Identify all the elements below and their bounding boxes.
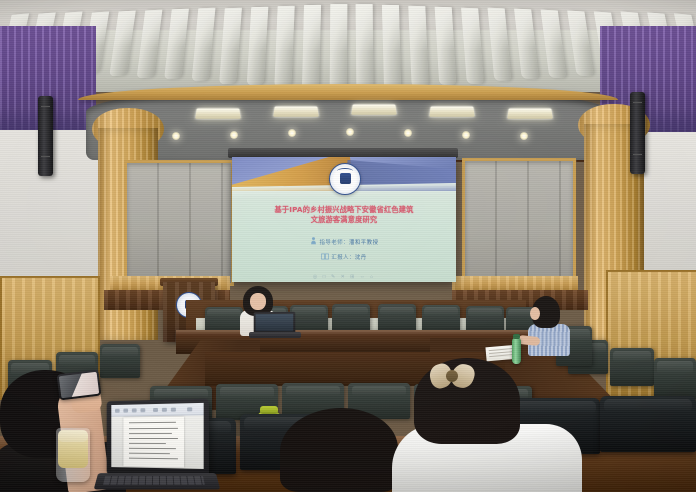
head-table-chair [422,305,460,333]
foreground-chair-4 [600,396,696,452]
ceiling-fin [382,5,401,89]
slide-presenter-line: 汇报人：沈丹 [232,253,456,261]
ceiling-downlight [230,131,238,139]
audience-laptop-screen[interactable] [107,399,209,478]
smartphone-screen [59,372,99,398]
person-icon [310,237,317,245]
word-document-page [123,417,184,468]
ceiling-fin [301,5,320,89]
note-taker-face [530,307,540,320]
side-chair-right-3 [654,358,696,400]
ceiling-fin [329,4,347,91]
presenter-laptop-screen [254,312,296,335]
wall-acoustic-panel-left [124,160,234,286]
slide-footer-marks: ◎ □ ✎ ✕ ⊞ ⇔ ⌂ [232,274,456,280]
wall-speaker-right [630,92,645,174]
laptop-keyboard[interactable] [103,476,205,485]
ceiling-downlight [346,128,354,136]
ceiling-downlight [462,131,470,139]
advisor-label: 指导老师： [320,240,349,246]
presenter-label: 汇报人： [331,255,355,261]
hair-bow [430,362,474,392]
presenter-face [250,293,266,310]
drink-glass [56,428,90,482]
projector-screen: 基于IPA的乡村振兴战略下安徽省红色建筑 文旅游客满意度研究 指导老师：潘和平教… [232,157,456,282]
book-icon [321,253,328,261]
note-taker-figure [528,296,572,356]
smartphone[interactable] [57,370,102,401]
presenter-laptop-base [249,332,301,338]
head-table-chair [378,304,416,332]
presenter-name: 沈丹 [355,255,367,261]
advisor-name: 潘和平教授 [349,240,378,246]
audience-figure-right [392,358,582,492]
recessed-panel-light [507,109,553,119]
recessed-panel-light [351,105,397,115]
recessed-panel-light [429,107,475,117]
slide-title-line-2: 文旅游客满意度研究 [240,215,448,226]
ceiling-fin [356,4,374,91]
ceiling-fin [274,6,294,87]
slide-advisor-line: 指导老师：潘和平教授 [232,237,456,246]
recessed-panel-light [195,109,241,119]
wall-acoustic-panel-right [462,158,576,288]
audience-figure-center [280,408,398,492]
recessed-panel-light [273,107,319,117]
conference-room-photo: 基于IPA的乡村振兴战略下安徽省红色建筑 文旅游客满意度研究 指导老师：潘和平教… [0,0,696,492]
audience-center-hair [280,408,398,492]
laptop-display [111,403,203,469]
head-table-chair [332,304,370,332]
word-ribbon [111,403,203,417]
audience-laptop-base[interactable] [94,473,221,489]
wall-speaker-left [38,96,53,176]
head-table-chair [290,305,328,333]
side-chair-right-2 [610,348,654,386]
university-emblem-icon [329,163,361,195]
